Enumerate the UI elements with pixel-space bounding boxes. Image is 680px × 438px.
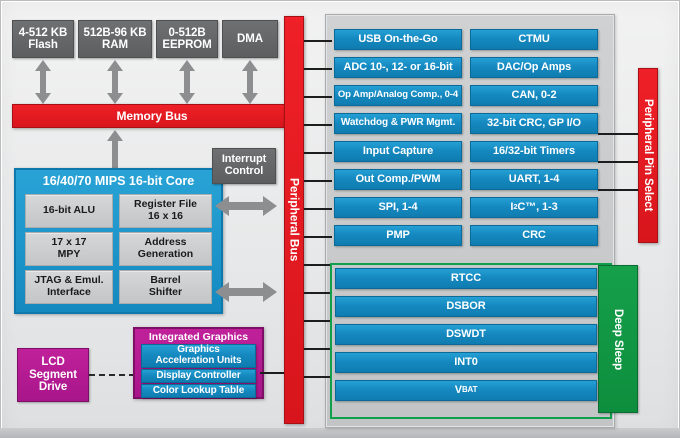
graphics-to-peripheral-bus-connector — [260, 372, 284, 374]
bus-stub-8 — [304, 236, 332, 238]
peripheral-crc: CRC — [470, 225, 598, 246]
integrated-graphics: Integrated Graphics GraphicsAcceleration… — [133, 327, 264, 399]
peripheral-adc: ADC 10-, 12- or 16-bit — [334, 57, 462, 78]
deep-sleep-dswdt: DSWDT — [335, 324, 597, 345]
core-cell-mpy: 17 x 17MPY — [25, 232, 113, 266]
peripheral-ctmu: CTMU — [470, 29, 598, 50]
bus-stub-7 — [304, 208, 332, 210]
arrow-bus-to-core — [106, 130, 124, 168]
bus-stub-13 — [304, 376, 332, 378]
arrow-eeprom-to-bus — [178, 60, 196, 104]
peripheral-usb-otg: USB On-the-Go — [334, 29, 462, 50]
deep-sleep-dsbor: DSBOR — [335, 296, 597, 317]
bus-stub-4 — [304, 124, 332, 126]
peripheral-out-comp-pwm: Out Comp./PWM — [334, 169, 462, 190]
interrupt-control: InterruptControl — [212, 148, 276, 184]
bus-stub-5 — [304, 152, 332, 154]
peripheral-op-amp-analog-comp: Op Amp/Analog Comp., 0-4 — [334, 85, 462, 106]
arrow-dma-to-bus — [241, 60, 259, 104]
arrow-flash-to-bus — [34, 60, 52, 104]
block-diagram: 4-512 KBFlash 512B-96 KBRAM 0-512BEEPROM… — [0, 0, 680, 438]
pps-connector-2 — [598, 161, 638, 163]
peripheral-32bit-crc-gpio: 32-bit CRC, GP I/O — [470, 113, 598, 134]
core-cell-register-file: Register File16 x 16 — [119, 194, 212, 228]
bus-stub-1 — [304, 40, 332, 42]
bus-stub-6 — [304, 180, 332, 182]
pps-connector-3 — [598, 189, 638, 191]
memory-block-eeprom: 0-512BEEPROM — [156, 20, 218, 58]
frame-bottom-bevel — [0, 428, 680, 438]
peripheral-i2c: I2C™, 1-3 — [470, 197, 598, 218]
memory-block-flash: 4-512 KBFlash — [12, 20, 74, 58]
core-cell-address-generation: AddressGeneration — [119, 232, 212, 266]
deep-sleep-int0: INT0 — [335, 352, 597, 373]
core-cell-alu: 16-bit ALU — [25, 194, 113, 228]
peripheral-watchdog-pwr-mgmt: Watchdog & PWR Mgmt. — [334, 113, 462, 134]
bus-stub-3 — [304, 96, 332, 98]
peripheral-spi: SPI, 1-4 — [334, 197, 462, 218]
memory-bus: Memory Bus — [12, 104, 292, 128]
arrow-core-to-peripheral-bus-bottom — [215, 281, 277, 303]
graphics-acceleration-units: GraphicsAcceleration Units — [141, 344, 256, 368]
deep-sleep-label: Deep Sleep — [598, 265, 638, 413]
pps-connector-1 — [598, 133, 638, 135]
arrow-core-to-peripheral-bus-top — [215, 195, 277, 217]
arrow-ram-to-bus — [106, 60, 124, 104]
core-title: 16/40/70 MIPS 16-bit Core — [16, 174, 221, 188]
peripheral-pin-select: Peripheral Pin Select — [638, 68, 658, 243]
display-controller: Display Controller — [141, 369, 256, 383]
cpu-core: 16/40/70 MIPS 16-bit Core 16-bit ALU Reg… — [14, 168, 223, 314]
color-lookup-table: Color Lookup Table — [141, 384, 256, 398]
peripheral-can: CAN, 0-2 — [470, 85, 598, 106]
peripheral-dac-op-amps: DAC/Op Amps — [470, 57, 598, 78]
bus-stub-9 — [304, 264, 332, 266]
bus-stub-2 — [304, 68, 332, 70]
deep-sleep-vbat: VBAT — [335, 380, 597, 401]
core-cell-barrel-shifter: BarrelShifter — [119, 270, 212, 304]
peripheral-timers: 16/32-bit Timers — [470, 141, 598, 162]
deep-sleep-rtcc: RTCC — [335, 268, 597, 289]
lcd-segment-drive: LCDSegmentDrive — [17, 348, 89, 402]
bus-stub-12 — [304, 348, 332, 350]
memory-block-dma: DMA — [222, 20, 278, 58]
core-cell-jtag: JTAG & Emul.Interface — [25, 270, 113, 304]
integrated-graphics-title: Integrated Graphics — [135, 331, 262, 343]
peripheral-input-capture: Input Capture — [334, 141, 462, 162]
bus-stub-10 — [304, 292, 332, 294]
peripheral-bus: Peripheral Bus — [284, 16, 304, 424]
bus-stub-11 — [304, 320, 332, 322]
lcd-to-graphics-connector — [89, 374, 135, 376]
peripheral-uart: UART, 1-4 — [470, 169, 598, 190]
memory-block-ram: 512B-96 KBRAM — [78, 20, 152, 58]
peripheral-pmp: PMP — [334, 225, 462, 246]
